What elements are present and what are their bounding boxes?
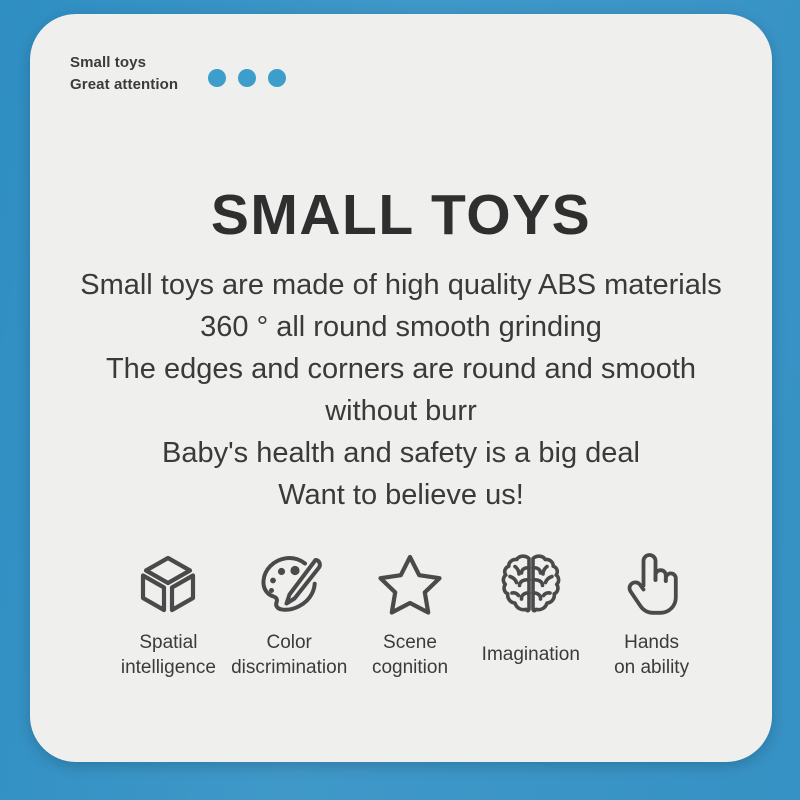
card-header: Small toys Great attention: [70, 52, 286, 96]
feature-color-discrimination: Color discrimination: [229, 546, 350, 680]
feature-label: Spatial intelligence: [121, 630, 216, 680]
dot-indicator-2: [238, 69, 256, 87]
feature-label: Imagination: [482, 642, 580, 667]
description-line: Small toys are made of high quality ABS …: [30, 264, 772, 306]
description-block: Small toys are made of high quality ABS …: [30, 264, 772, 516]
feature-scene-cognition: Scene cognition: [350, 546, 471, 680]
feature-list: Spatial intelligence Color discriminatio…: [108, 546, 712, 680]
star-icon: [372, 546, 448, 622]
brain-icon: [493, 546, 569, 622]
feature-label: Hands on ability: [614, 630, 689, 680]
header-tagline: Small toys Great attention: [70, 52, 178, 96]
feature-label: Color discrimination: [231, 630, 347, 680]
feature-spatial-intelligence: Spatial intelligence: [108, 546, 229, 680]
dot-indicator-1: [208, 69, 226, 87]
feature-hands-on-ability: Hands on ability: [591, 546, 712, 680]
cube-icon: [130, 546, 206, 622]
description-line: 360 ° all round smooth grinding: [30, 306, 772, 348]
description-line: Baby's health and safety is a big deal: [30, 432, 772, 474]
product-info-card: Small toys Great attention SMALL TOYS Sm…: [30, 14, 772, 762]
description-line: The edges and corners are round and smoo…: [30, 348, 772, 390]
page-title: SMALL TOYS: [30, 182, 772, 248]
feature-label: Scene cognition: [372, 630, 448, 680]
feature-imagination: Imagination: [470, 546, 591, 667]
hand-pointer-icon: [614, 546, 690, 622]
description-line: Want to believe us!: [30, 474, 772, 516]
header-dots: [208, 69, 286, 87]
description-line: without burr: [30, 390, 772, 432]
palette-icon: [251, 546, 327, 622]
dot-indicator-3: [268, 69, 286, 87]
page-background: Small toys Great attention SMALL TOYS Sm…: [0, 0, 800, 800]
